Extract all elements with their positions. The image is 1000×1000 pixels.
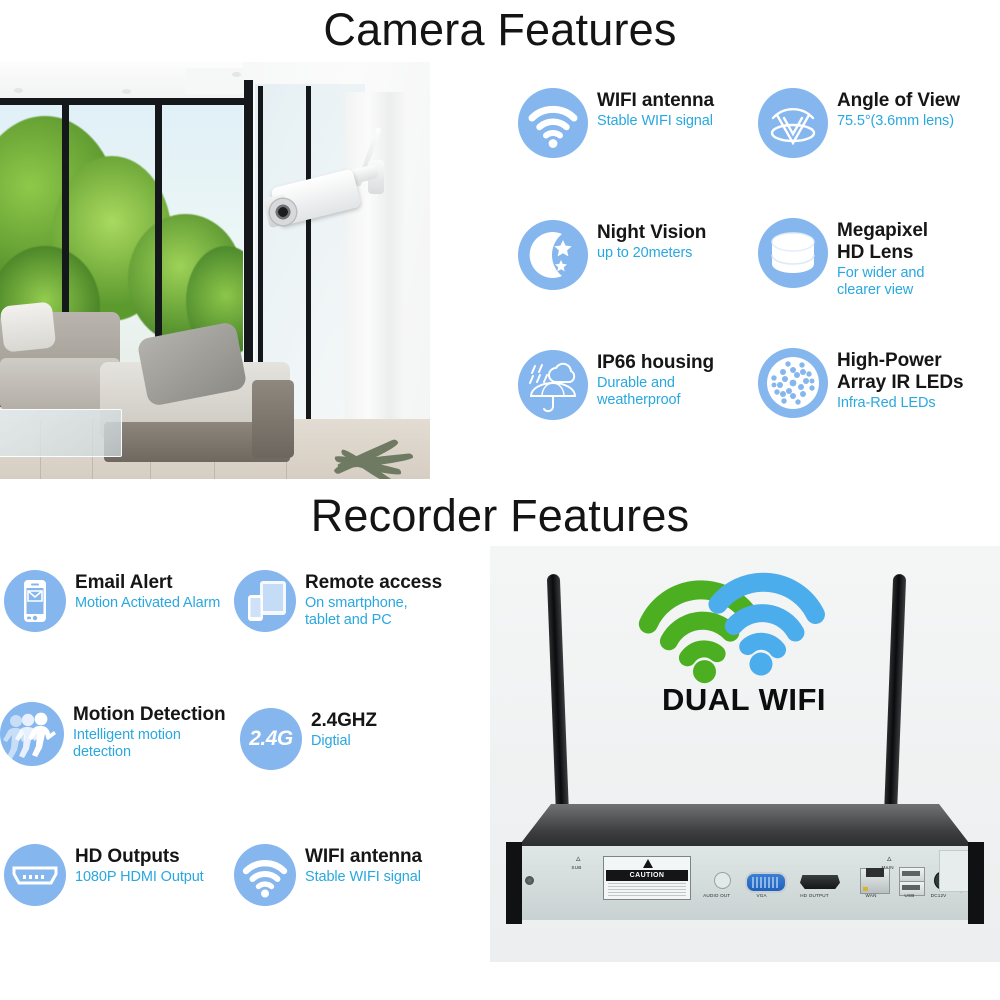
nvr-top-surface: [514, 804, 976, 852]
hd-output-label: HD OUTPUT: [800, 893, 828, 899]
feature-wifi-antenna: WIFI antenna Stable WIFI signal: [518, 88, 714, 158]
feature-title: Night Vision: [597, 222, 706, 244]
feature-title-line2: HD Lens: [837, 242, 928, 264]
coffee-table: [0, 409, 122, 457]
dc12v-label: DC12V: [931, 893, 947, 899]
bullet-camera: [258, 156, 398, 266]
living-room-camera-photo: [0, 62, 430, 479]
nvr-rear-panel: ▵ SUB ▵ MAIN CAUTION AUDIO OUT VGA HD OU…: [506, 846, 984, 920]
running-people-icon: [0, 702, 64, 766]
feature-title: IP66 housing: [597, 352, 714, 374]
feature-2-4ghz: 2.4G 2.4GHZ Digtial: [240, 708, 377, 770]
recorder-features-title: Recorder Features: [0, 488, 1000, 544]
wifi-arc-blue: [711, 577, 818, 680]
infographic-page: Camera Features: [0, 0, 1000, 1000]
feature-motion-detection: Motion Detection Intelligent motion dete…: [0, 702, 226, 766]
wifi-icon: [234, 844, 296, 906]
feature-title: WIFI antenna: [305, 846, 422, 868]
feature-title-line2: Array IR LEDs: [837, 372, 963, 394]
blank-panel: [939, 850, 975, 892]
phone-email-icon: [4, 570, 66, 632]
feature-subtitle: Infra-Red LEDs: [837, 395, 963, 412]
caution-label: CAUTION: [606, 870, 688, 881]
lens-cylinder-icon: [758, 218, 828, 288]
audio-out-port: [714, 872, 731, 889]
feature-title: Remote access: [305, 572, 442, 594]
feature-subtitle: Intelligent motion detection: [73, 727, 226, 761]
wifi-arc-green: [645, 584, 755, 690]
hdmi-port-icon: [4, 844, 66, 906]
sub-antenna-label: SUB: [571, 865, 581, 871]
feature-angle-of-view: Angle of View 75.5°(3.6mm lens): [758, 88, 960, 158]
feature-remote-access: Remote access On smartphone, tablet and …: [234, 570, 442, 632]
feature-ir-leds: High-Power Array IR LEDs Infra-Red LEDs: [758, 348, 963, 418]
feature-subtitle: Durable and weatherproof: [597, 375, 714, 409]
feature-subtitle: On smartphone, tablet and PC: [305, 595, 442, 629]
hdmi-port: [800, 875, 840, 889]
dual-wifi-label: DUAL WIFI: [634, 682, 854, 718]
caution-fineprint: [608, 883, 686, 896]
badge-label: 2.4G: [249, 727, 293, 751]
feature-ip66-housing: IP66 housing Durable and weatherproof: [518, 350, 714, 420]
sofa-arm: [252, 380, 294, 458]
main-antenna-symbol: ▵: [887, 854, 892, 863]
vga-label: VGA: [756, 893, 766, 899]
feature-wifi-antenna-recorder: WIFI antenna Stable WIFI signal: [234, 844, 422, 906]
feature-subtitle: up to 20meters: [597, 245, 706, 262]
feature-subtitle: Stable WIFI signal: [597, 113, 714, 130]
sub-antenna-symbol: ▵: [576, 854, 581, 863]
feature-title: Megapixel: [837, 220, 928, 242]
feature-subtitle: Motion Activated Alarm: [75, 595, 220, 612]
angle-view-icon: [758, 88, 828, 158]
feature-title: Angle of View: [837, 90, 960, 112]
feature-megapixel-hd-lens: Megapixel HD Lens For wider and clearer …: [758, 218, 928, 299]
feature-title: High-Power: [837, 350, 963, 372]
camera-features-title: Camera Features: [0, 2, 1000, 58]
wan-label: WAN: [865, 893, 876, 899]
audio-out-label: AUDIO OUT: [703, 893, 730, 899]
nvr-product-panel: DUAL WIFI ▵ SUB ▵ MAIN CAUTION AUDIO OU: [490, 546, 1000, 962]
feature-subtitle: Digtial: [311, 733, 377, 750]
wifi-icon: [518, 88, 588, 158]
feature-night-vision: Night Vision up to 20meters: [518, 220, 706, 290]
dual-wifi-logo: DUAL WIFI: [634, 566, 854, 696]
led-array-icon: [758, 348, 828, 418]
feature-hd-outputs: HD Outputs 1080P HDMI Output: [4, 844, 204, 906]
feature-subtitle: For wider and clearer view: [837, 265, 928, 299]
feature-title: WIFI antenna: [597, 90, 714, 112]
feature-title: Email Alert: [75, 572, 220, 594]
potted-plant: [330, 369, 430, 479]
feature-email-alert: Email Alert Motion Activated Alarm: [4, 570, 220, 632]
badge-2-4g: 2.4G: [240, 708, 302, 770]
feature-subtitle: Stable WIFI signal: [305, 869, 422, 886]
warning-triangle-icon: [643, 859, 653, 868]
usb-port-top: [899, 867, 925, 882]
devices-icon: [234, 570, 296, 632]
feature-subtitle: 75.5°(3.6mm lens): [837, 113, 960, 130]
feature-title: 2.4GHZ: [311, 710, 377, 732]
usb-label: USB: [904, 893, 914, 899]
feature-title: HD Outputs: [75, 846, 204, 868]
moon-stars-icon: [518, 220, 588, 290]
screw: [525, 876, 534, 885]
wan-port: [860, 868, 890, 894]
vga-port: [745, 872, 787, 893]
umbrella-rain-icon: [518, 350, 588, 420]
feature-subtitle: 1080P HDMI Output: [75, 869, 204, 886]
caution-plate: CAUTION: [603, 856, 691, 900]
feature-title: Motion Detection: [73, 704, 226, 726]
